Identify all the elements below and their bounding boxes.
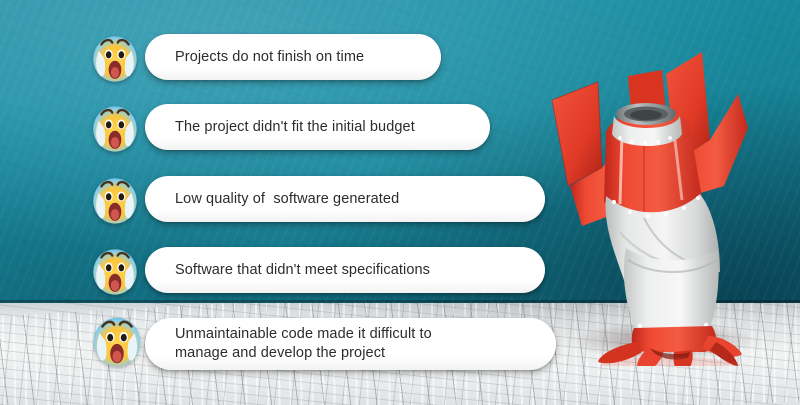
infographic-scene: Projects do not finish on time [0,0,800,405]
problem-text: Software that didn't meet specifications [175,261,430,279]
problem-pill[interactable]: Low quality of software generated [145,176,545,222]
face-screaming-in-fear-icon [86,242,144,300]
face-screaming-in-fear-icon [86,29,144,87]
list-item[interactable]: The project didn't fit the initial budge… [145,104,490,150]
list-item[interactable]: Software that didn't meet specifications [145,247,545,293]
problem-pill[interactable]: Projects do not finish on time [145,34,441,80]
problem-text: Unmaintainable code made it difficult to… [175,325,432,363]
problem-pill[interactable]: Unmaintainable code made it difficult to… [145,318,556,370]
problem-pill[interactable]: The project didn't fit the initial budge… [145,104,490,150]
face-screaming-in-fear-icon [86,171,144,229]
face-screaming-in-fear-icon [86,99,144,157]
problem-text: The project didn't fit the initial budge… [175,118,415,136]
crashed-rocket-illustration [524,36,788,366]
problem-text: Projects do not finish on time [175,48,364,66]
list-item[interactable]: Unmaintainable code made it difficult to… [145,318,556,370]
face-screaming-in-fear-icon [86,310,148,372]
problem-text: Low quality of software generated [175,190,399,208]
list-item[interactable]: Projects do not finish on time [145,34,441,80]
list-item[interactable]: Low quality of software generated [145,176,545,222]
problem-pill[interactable]: Software that didn't meet specifications [145,247,545,293]
